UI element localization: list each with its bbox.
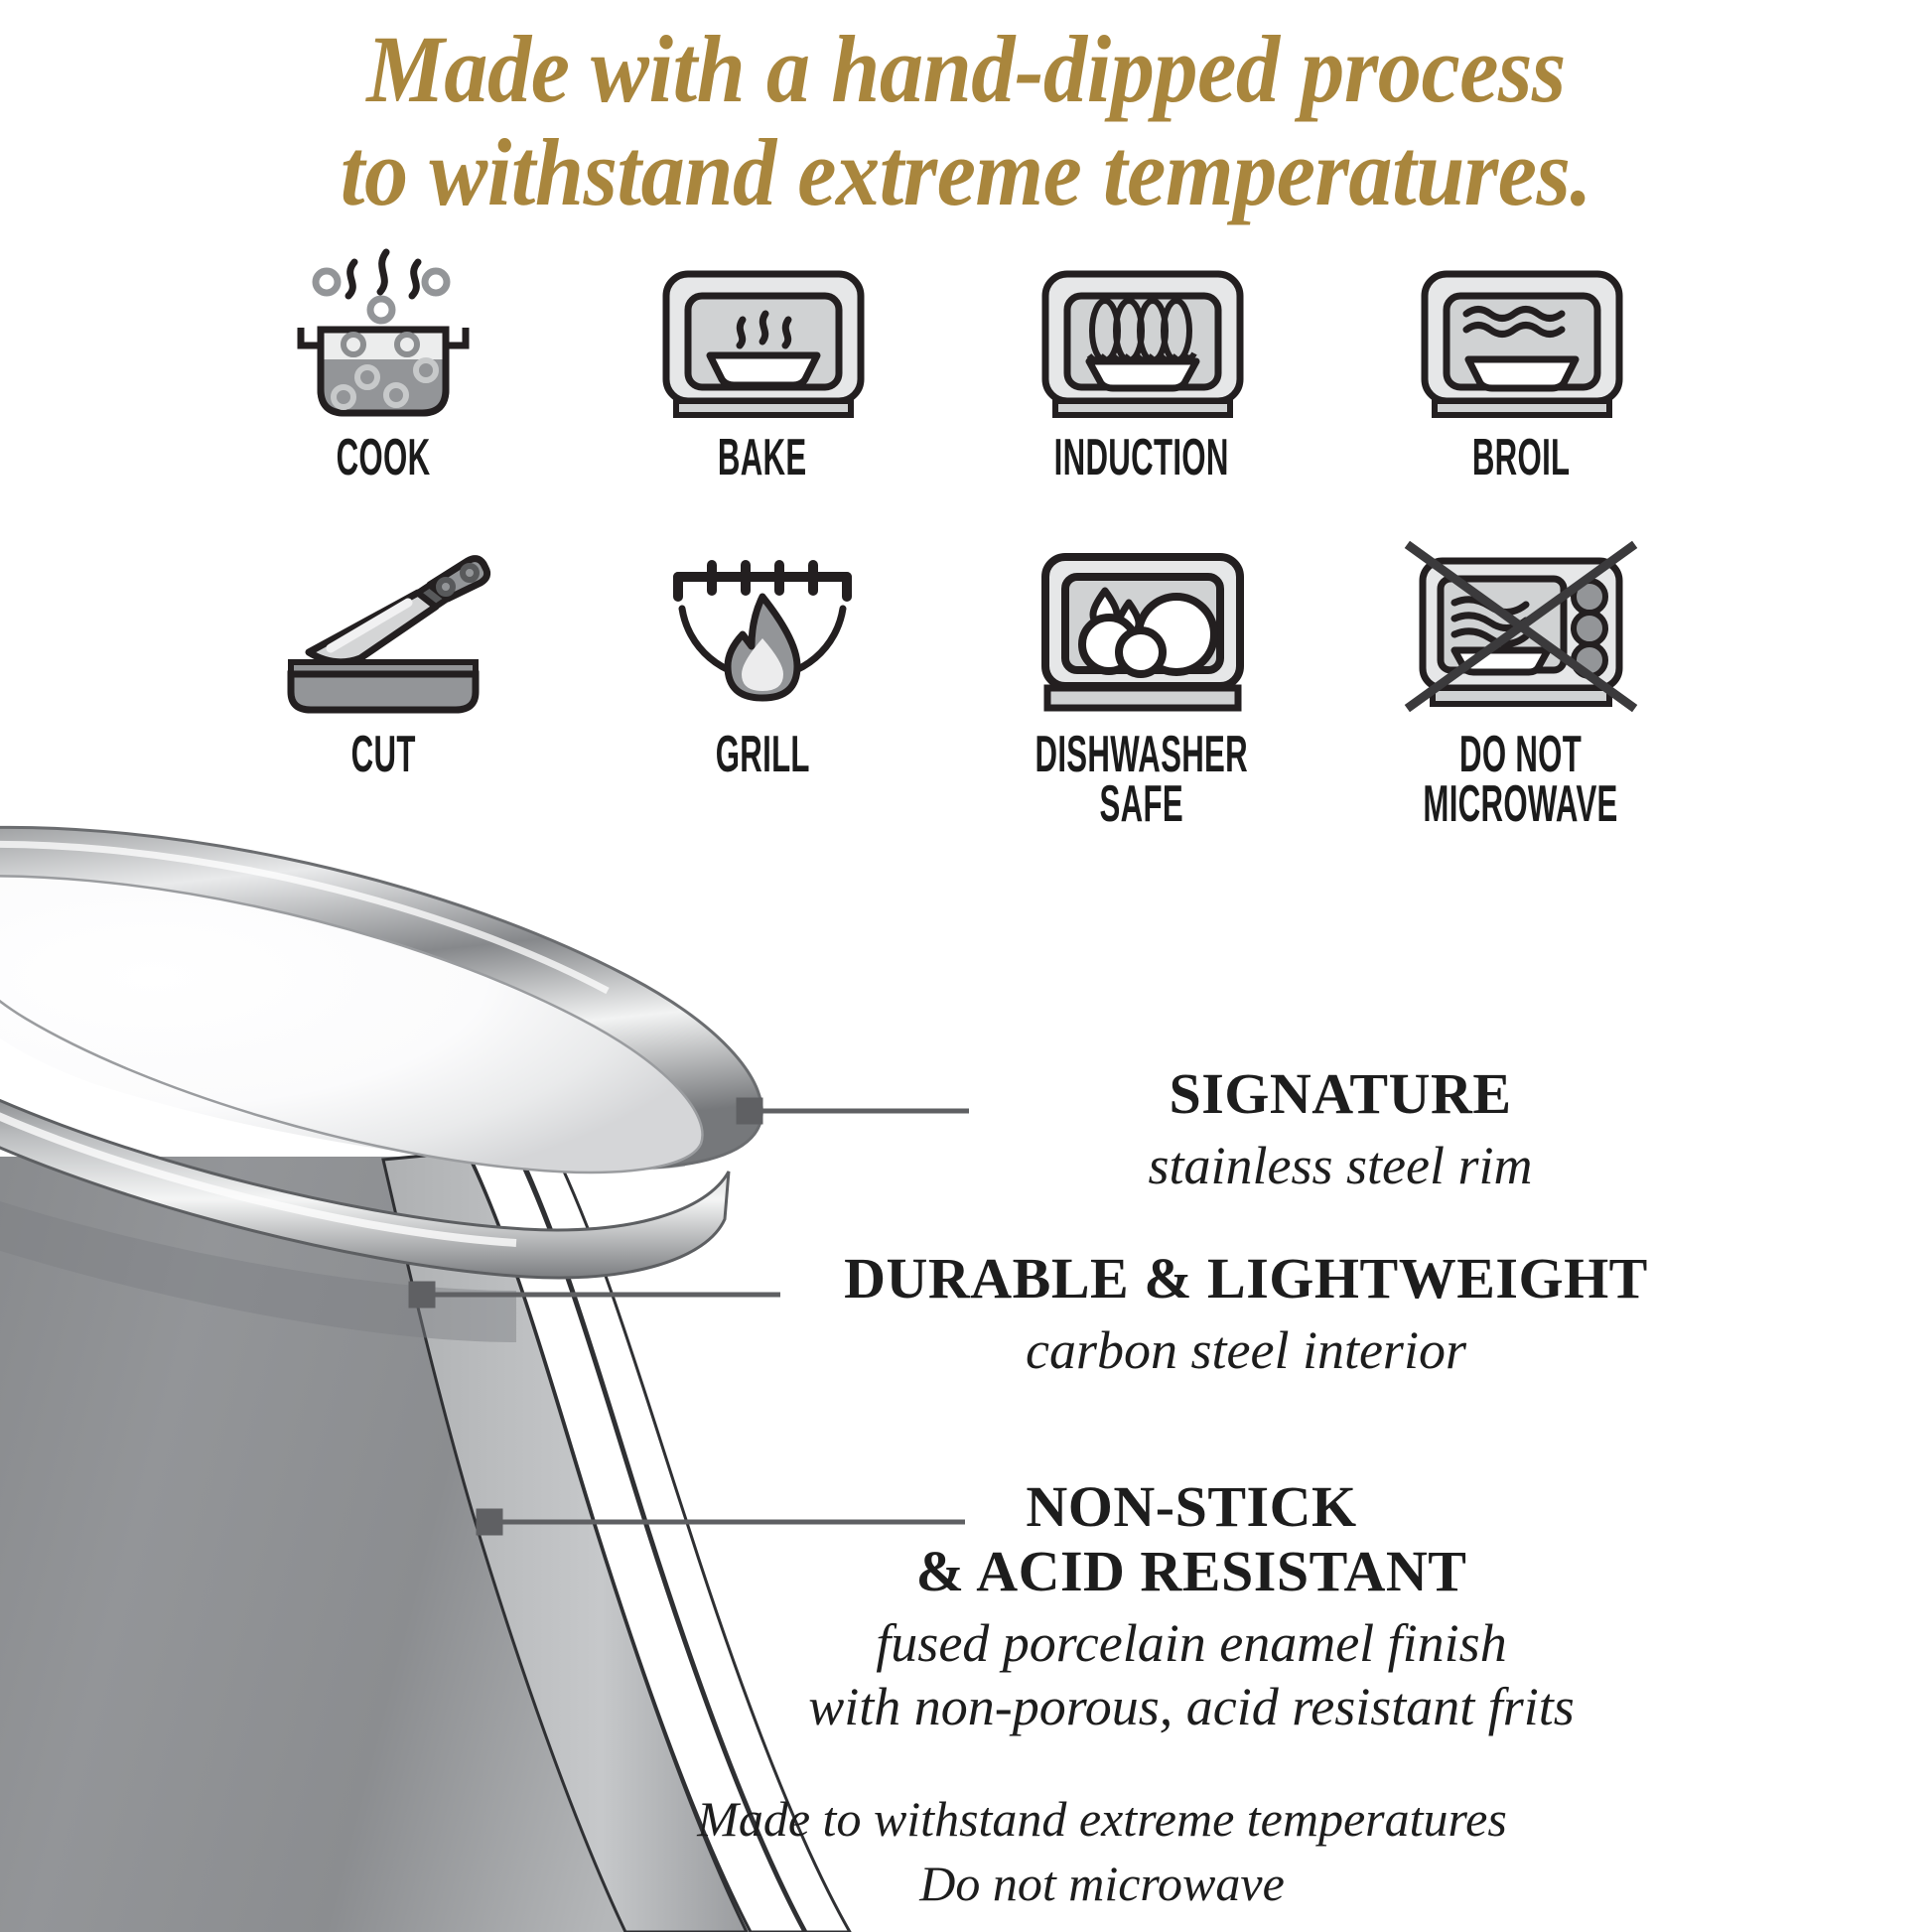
callout-nonstick: NON-STICK & ACID RESISTANT fused porcela… bbox=[685, 1475, 1698, 1738]
callout-nonstick-sub: fused porcelain enamel finish with non-p… bbox=[685, 1612, 1698, 1738]
callout-signature-title: SIGNATURE bbox=[993, 1062, 1688, 1127]
callout-durable: DURABLE & LIGHTWEIGHT carbon steel inter… bbox=[794, 1247, 1698, 1383]
footnote: Made to withstand extreme temperatures D… bbox=[556, 1787, 1648, 1916]
callout-signature: SIGNATURE stainless steel rim bbox=[993, 1062, 1688, 1198]
callout-durable-title: DURABLE & LIGHTWEIGHT bbox=[794, 1247, 1698, 1311]
callout-signature-sub: stainless steel rim bbox=[993, 1135, 1688, 1198]
product-infographic: Made with a hand-dipped process to withs… bbox=[0, 0, 1932, 1932]
callout-durable-sub: carbon steel interior bbox=[794, 1319, 1698, 1383]
callout-nonstick-title: NON-STICK & ACID RESISTANT bbox=[685, 1475, 1698, 1604]
